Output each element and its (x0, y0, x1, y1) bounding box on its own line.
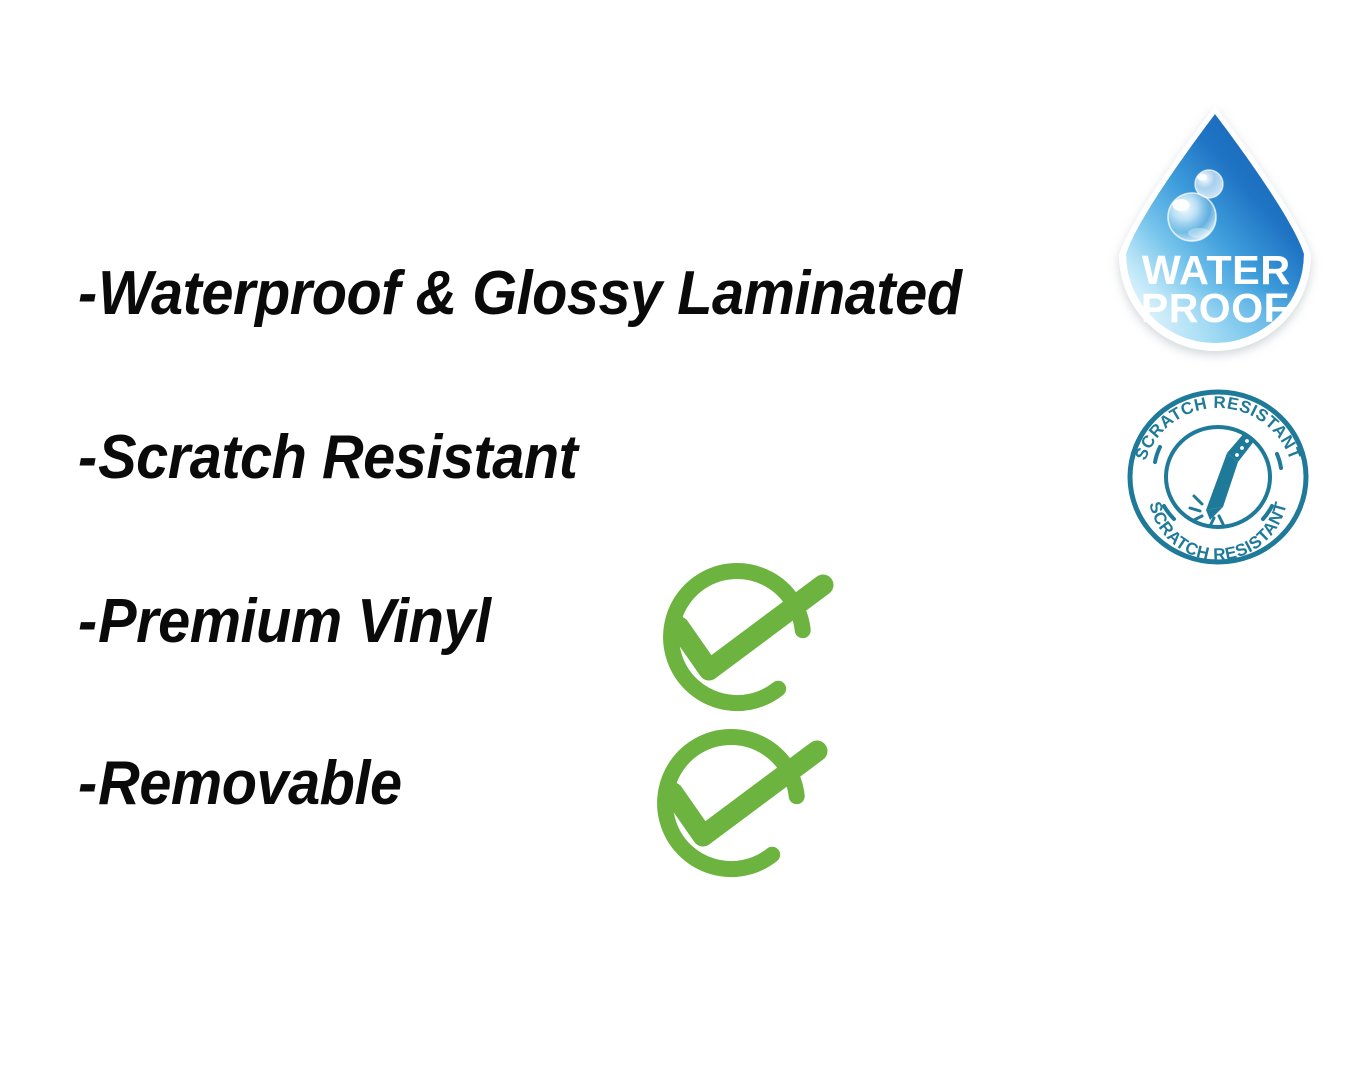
feature-item-scratch-resistant: -Scratch Resistant (78, 426, 577, 490)
feature-item-waterproof-glossy-laminated: -Waterproof & Glossy Laminated (78, 262, 961, 326)
feature-label: Premium Vinyl (98, 587, 490, 656)
knife-stamp-icon: SCRATCH RESISTANT SCRATCH RESISTANT (1122, 384, 1314, 570)
feature-label: Removable (98, 749, 401, 818)
waterproof-line2: PROOF (1141, 285, 1289, 331)
feature-bullet: - (78, 749, 98, 818)
water-drop-icon: WATER PROOF (1096, 104, 1334, 366)
knife-icon (1190, 432, 1255, 526)
check-circle-icon (637, 718, 837, 883)
feature-bullet: - (78, 423, 98, 492)
feature-label: Waterproof & Glossy Laminated (98, 259, 961, 328)
feature-bullet: - (78, 259, 98, 328)
feature-item-premium-vinyl: -Premium Vinyl (78, 590, 491, 654)
feature-item-removable: -Removable (78, 752, 402, 816)
feature-label: Scratch Resistant (98, 423, 577, 492)
feature-bullet: - (78, 587, 98, 656)
check-circle-icon (643, 552, 843, 717)
product-feature-graphic: -Waterproof & Glossy Laminated -Scratch … (0, 0, 1359, 1080)
